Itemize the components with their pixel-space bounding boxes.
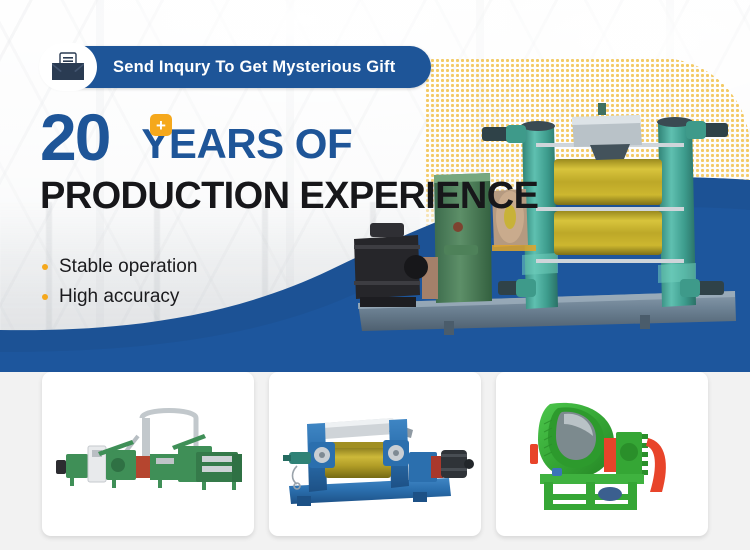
bullet-label: High accuracy <box>59 285 179 309</box>
rubber-recycling-production-line-image <box>46 394 251 514</box>
inquiry-banner-pill[interactable]: Send Inqury To Get Mysterious Gift <box>41 46 431 88</box>
product-card-tyre-cutting-machine[interactable] <box>496 372 708 536</box>
headline-block: 20 + YEARS OF PRODUCTION EXPERIENCE <box>40 108 538 215</box>
headline-subtitle: PRODUCTION EXPERIENCE <box>40 177 538 215</box>
product-card-rubber-mixing-mill[interactable] <box>269 372 481 536</box>
feature-bullet-list: Stable operation High accuracy <box>42 255 197 315</box>
inquiry-pill-label: Send Inqury To Get Mysterious Gift <box>113 58 395 77</box>
product-card-row <box>42 372 708 536</box>
envelope-icon <box>39 43 97 91</box>
two-roll-rubber-mixing-mill-image <box>273 394 478 514</box>
hero-section: Send Inqury To Get Mysterious Gift 20 + … <box>0 0 750 372</box>
bullet-dot-icon <box>42 294 48 300</box>
list-item: Stable operation <box>42 255 197 279</box>
headline-line-1: 20 + YEARS OF <box>40 108 538 167</box>
bullet-dot-icon <box>42 264 48 270</box>
product-card-rubber-recycling-line[interactable] <box>42 372 254 536</box>
rubber-tyre-cutting-machine-image <box>500 394 705 514</box>
list-item: High accuracy <box>42 285 197 309</box>
plus-badge: + <box>150 114 172 136</box>
product-card-strip <box>0 372 750 550</box>
years-of-label: YEARS OF <box>141 123 352 167</box>
bullet-label: Stable operation <box>59 255 197 279</box>
years-number: 20 <box>40 108 109 167</box>
promo-banner: Send Inqury To Get Mysterious Gift 20 + … <box>0 0 750 550</box>
